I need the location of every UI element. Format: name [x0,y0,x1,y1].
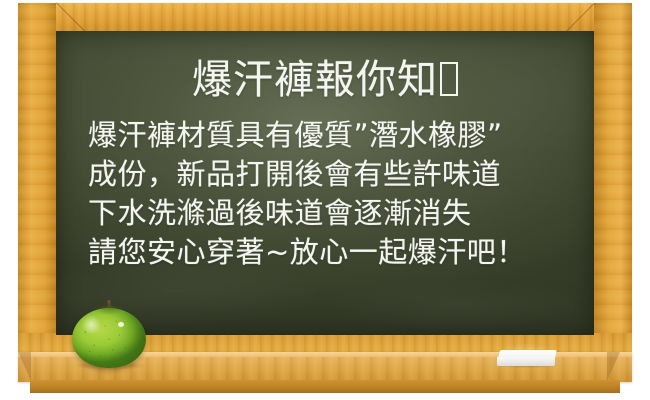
chalkboard-text-block: 爆汗褲報你知 爆汗褲材質具有優質”潛水橡膠” 成份，新品打開後會有些許味道 下水… [56,31,594,272]
eraser-front-face [497,357,555,366]
chalk-eraser-icon [497,350,558,366]
frame-right-rail [594,3,632,365]
frame-top-rail [18,3,632,33]
chalkboard-surface: 爆汗褲報你知 爆汗褲材質具有優質”潛水橡膠” 成份，新品打開後會有些許味道 下水… [56,31,594,335]
chalkboard-scene: 爆汗褲報你知 爆汗褲材質具有優質”潛水橡膠” 成份，新品打開後會有些許味道 下水… [0,0,650,400]
board-line-3: 下水洗滌過後味道會逐漸消失 [88,194,576,233]
board-line-2: 成份，新品打開後會有些許味道 [88,155,576,194]
chalk-ledge-right-edge [607,352,620,381]
frame-left-rail [18,3,56,365]
board-line-1: 爆汗褲材質具有優質”潛水橡膠” [88,116,576,155]
board-body: 爆汗褲材質具有優質”潛水橡膠” 成份，新品打開後會有些許味道 下水洗滌過後味道會… [56,116,594,272]
board-title-text: 爆汗褲報你知 [192,57,438,103]
chalk-ledge-left-edge [18,352,31,381]
missing-glyph-box-icon [440,62,458,96]
apple-speckles [72,308,146,368]
apple-highlight [118,322,124,327]
board-line-4: 請您安心穿著~放心一起爆汗吧！ [88,233,576,272]
apple-stem-dimple [94,306,124,315]
board-title: 爆汗褲報你知 [56,60,594,100]
chalk-ledge-front-face [30,380,620,393]
green-apple-icon [72,300,146,368]
apple-body [72,308,146,368]
